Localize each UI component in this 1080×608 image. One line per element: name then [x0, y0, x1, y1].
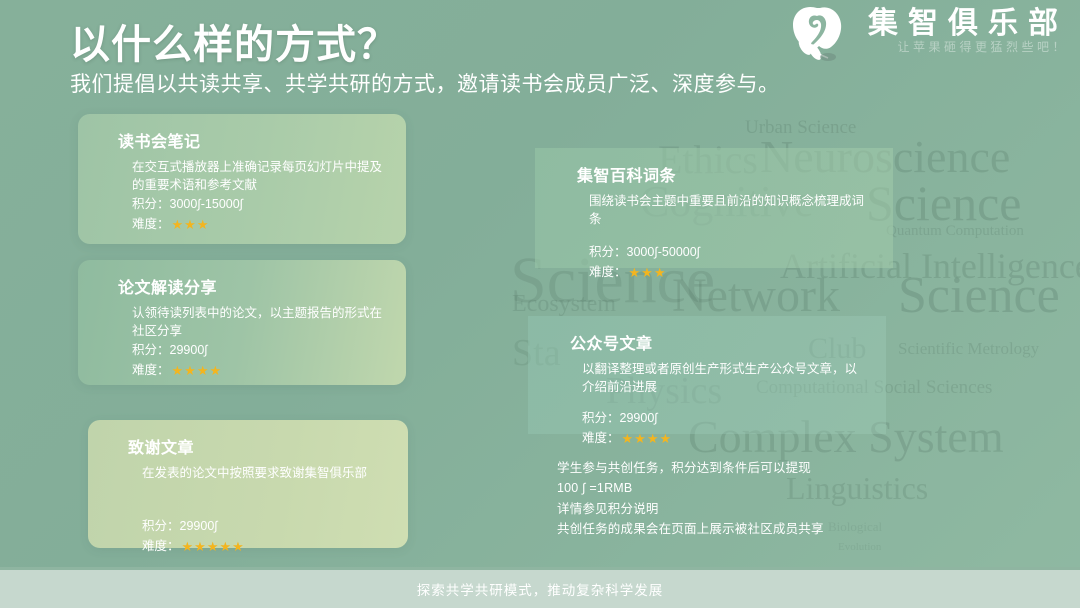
points-value: 3000∫-15000∫: [170, 194, 244, 214]
task-card[interactable]: 读书会笔记 在交互式播放器上准确记录每页幻灯片中提及的重要术语和参考文献 积分：…: [78, 114, 406, 244]
card-description: 以翻译整理或者原创生产形式生产公众号文章，以介绍前沿进展: [582, 360, 866, 396]
task-card[interactable]: 公众号文章 以翻译整理或者原创生产形式生产公众号文章，以介绍前沿进展 积分： 2…: [528, 316, 886, 434]
star-icon: ★: [172, 218, 184, 231]
task-card[interactable]: 论文解读分享 认领待读列表中的论文，以主题报告的形式在社区分享 积分： 2990…: [78, 260, 406, 385]
note-line: 共创任务的成果会在页面上展示被社区成员共享: [557, 519, 977, 539]
difficulty-stars: ★★★★: [622, 432, 672, 445]
slide-root: Urban ScienceEthicsNeuroscienceCognitive…: [0, 0, 1080, 608]
difficulty-label: 难度：: [132, 360, 170, 380]
star-icon: ★: [197, 364, 209, 377]
points-label: 积分：: [132, 340, 170, 360]
star-icon: ★: [172, 364, 184, 377]
card-meta: 积分： 3000∫-15000∫ 难度： ★★★: [132, 194, 386, 234]
points-value: 29900∫: [620, 408, 658, 428]
difficulty-row: 难度： ★★★: [589, 262, 873, 282]
wordcloud-term: Ecosystem: [512, 292, 616, 316]
wordcloud-term: Science: [898, 270, 1060, 322]
difficulty-stars: ★★★: [629, 266, 666, 279]
wordcloud-term: Quantum Computation: [886, 224, 1024, 239]
difficulty-label: 难度：: [142, 536, 180, 556]
points-row: 积分： 29900∫: [132, 340, 386, 360]
difficulty-row: 难度： ★★★★★: [142, 536, 388, 556]
note-line: 100 ∫ =1RMB: [557, 478, 977, 498]
difficulty-stars: ★★★★★: [182, 540, 244, 553]
logo-slogan: 让苹果砸得更猛烈些吧！: [894, 40, 1068, 54]
card-meta: 积分： 29900∫ 难度： ★★★★: [132, 340, 386, 380]
star-icon: ★: [232, 540, 244, 553]
points-row: 积分： 3000∫-50000∫: [589, 242, 873, 262]
card-description: 在交互式播放器上准确记录每页幻灯片中提及的重要术语和参考文献: [132, 158, 386, 194]
difficulty-label: 难度：: [589, 262, 627, 282]
logo-name: 集智俱乐部: [858, 8, 1068, 40]
card-title: 致谢文章: [128, 434, 388, 458]
note-line: 详情参见积分说明: [557, 499, 977, 519]
notes-block: 学生参与共创任务，积分达到条件后可以提现 100 ∫ =1RMB 详情参见积分说…: [557, 458, 977, 539]
difficulty-label: 难度：: [132, 214, 170, 234]
wordcloud-term: Urban Science: [745, 118, 856, 137]
note-line: 学生参与共创任务，积分达到条件后可以提现: [557, 458, 977, 478]
star-icon: ★: [654, 266, 666, 279]
star-icon: ★: [197, 218, 209, 231]
card-description: 围绕读书会主题中重要且前沿的知识概念梳理成词条: [589, 192, 873, 228]
card-title: 论文解读分享: [118, 274, 386, 298]
star-icon: ★: [622, 432, 634, 445]
star-icon: ★: [634, 432, 646, 445]
footer-bar: 探索共学共研模式，推动复杂科学发展: [0, 567, 1080, 608]
points-value: 3000∫-50000∫: [627, 242, 701, 262]
logo: 集智俱乐部 让苹果砸得更猛烈些吧！: [786, 2, 1068, 62]
points-label: 积分：: [142, 516, 180, 536]
card-description: 认领待读列表中的论文，以主题报告的形式在社区分享: [132, 304, 386, 340]
page-subtitle: 我们提倡以共读共享、共学共研的方式，邀请读书会成员广泛、深度参与。: [70, 68, 780, 98]
star-icon: ★: [629, 266, 641, 279]
difficulty-row: 难度： ★★★★: [582, 428, 866, 448]
card-meta: 积分： 3000∫-50000∫ 难度： ★★★: [589, 242, 873, 282]
wordcloud-term: Evolution: [838, 542, 881, 553]
logo-text: 集智俱乐部 让苹果砸得更猛烈些吧！: [858, 8, 1068, 57]
star-icon: ★: [647, 432, 659, 445]
points-value: 29900∫: [180, 516, 218, 536]
points-row: 积分： 29900∫: [142, 516, 388, 536]
star-icon: ★: [219, 540, 231, 553]
star-icon: ★: [184, 364, 196, 377]
star-icon: ★: [209, 364, 221, 377]
difficulty-stars: ★★★: [172, 218, 209, 231]
points-label: 积分：: [589, 242, 627, 262]
star-icon: ★: [184, 218, 196, 231]
points-label: 积分：: [582, 408, 620, 428]
star-icon: ★: [207, 540, 219, 553]
difficulty-row: 难度： ★★★: [132, 214, 386, 234]
points-value: 29900∫: [170, 340, 208, 360]
points-row: 积分： 29900∫: [582, 408, 866, 428]
card-meta: 积分： 29900∫ 难度： ★★★★: [582, 408, 866, 448]
star-icon: ★: [194, 540, 206, 553]
points-row: 积分： 3000∫-15000∫: [132, 194, 386, 214]
task-card[interactable]: 集智百科词条 围绕读书会主题中重要且前沿的知识概念梳理成词条 积分： 3000∫…: [535, 148, 893, 268]
difficulty-row: 难度： ★★★★: [132, 360, 386, 380]
star-icon: ★: [659, 432, 671, 445]
task-card[interactable]: 致谢文章 在发表的论文中按照要求致谢集智俱乐部 积分： 29900∫ 难度： ★…: [88, 420, 408, 548]
star-icon: ★: [182, 540, 194, 553]
points-label: 积分：: [132, 194, 170, 214]
card-title: 公众号文章: [570, 330, 866, 354]
card-meta: 积分： 29900∫ 难度： ★★★★★: [142, 516, 388, 556]
difficulty-stars: ★★★★: [172, 364, 222, 377]
star-icon: ★: [641, 266, 653, 279]
wordcloud-term: Scientific Metrology: [898, 340, 1039, 357]
card-description: 在发表的论文中按照要求致谢集智俱乐部: [142, 464, 388, 482]
card-title: 读书会笔记: [118, 128, 386, 152]
page-title: 以什么样的方式？: [70, 12, 398, 70]
card-title: 集智百科词条: [577, 162, 873, 186]
apple-logo-icon: [786, 2, 848, 62]
footer-text: 探索共学共研模式，推动复杂科学发展: [417, 579, 664, 599]
difficulty-label: 难度：: [582, 428, 620, 448]
